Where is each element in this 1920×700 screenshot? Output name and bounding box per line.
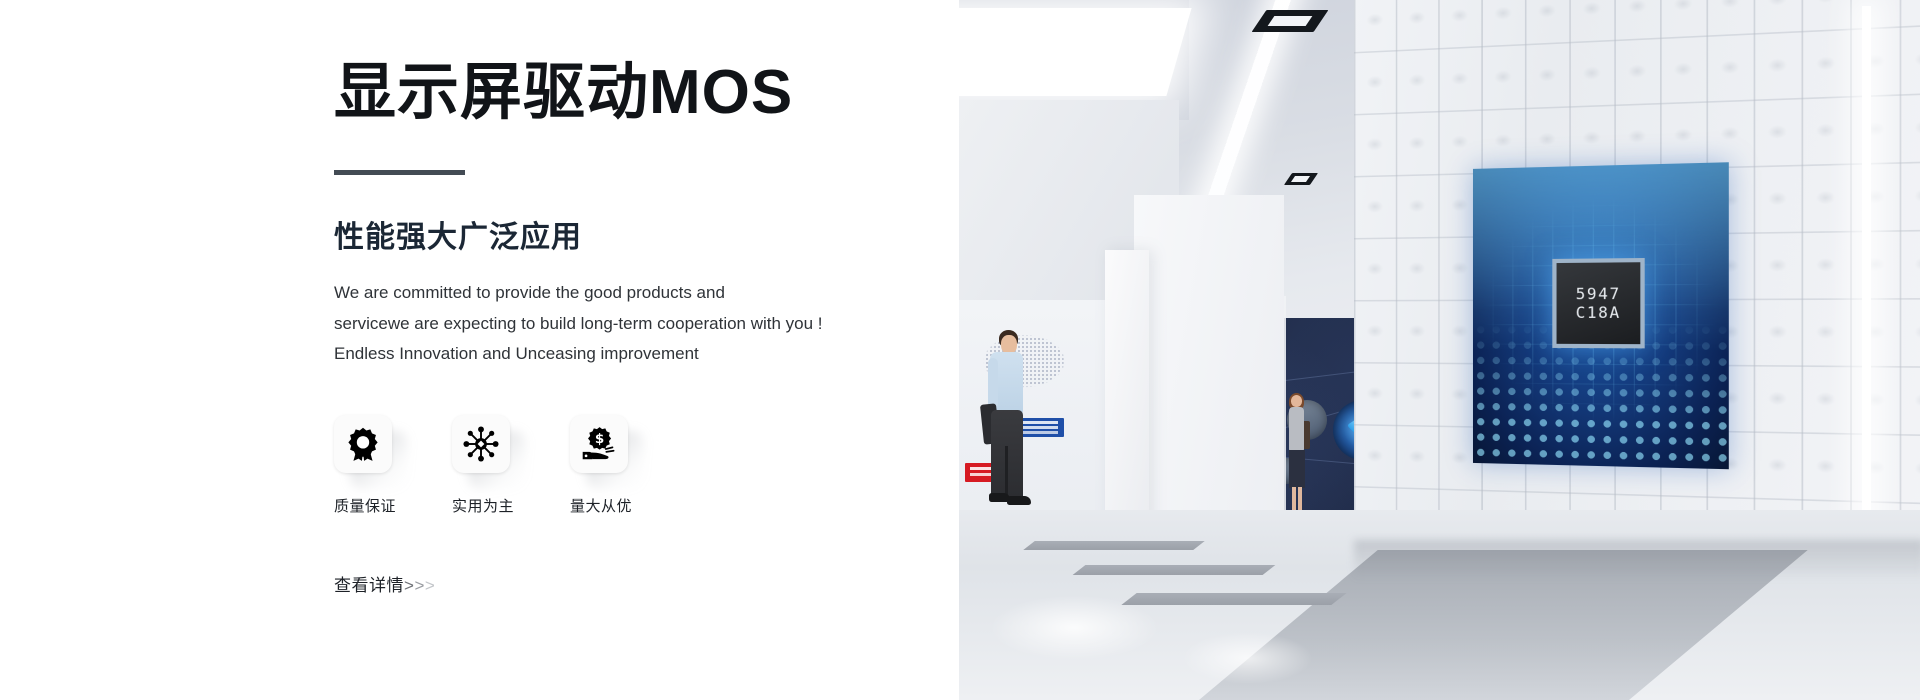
chevron-3-icon: >: [425, 576, 435, 595]
hand-money-icon: $: [581, 426, 617, 462]
feature-label: 量大从优: [570, 495, 688, 516]
feature-badge: [334, 415, 392, 473]
chevron-2-icon: >: [414, 576, 424, 595]
floor-reflection: [959, 510, 1920, 700]
hero-banner: 5947 C18A 创和 电子: [0, 0, 1920, 700]
chip-label-line2: C18A: [1576, 304, 1621, 324]
subheading: 性能强大广泛应用: [334, 220, 914, 256]
page-title: 显示屏驱动MOS: [334, 58, 914, 127]
feature-badge: [452, 415, 510, 473]
feature-list: 质量保证: [334, 415, 914, 516]
description-line-1: We are committed to provide the good pro…: [334, 278, 914, 308]
chevron-1-icon: >: [404, 576, 414, 595]
description-line-2: servicewe are expecting to build long-te…: [334, 309, 914, 339]
description-paragraph: We are committed to provide the good pro…: [334, 278, 914, 369]
floor-inlay-strip: [1073, 565, 1276, 575]
floor-inlay-strip: [1023, 541, 1205, 550]
view-details-link[interactable]: 查看详情>>>: [334, 571, 435, 596]
svg-text:$: $: [595, 431, 604, 447]
network-hub-icon: [463, 426, 499, 462]
view-details-label: 查看详情: [334, 576, 404, 595]
title-divider: [334, 170, 465, 175]
text-content: 显示屏驱动MOS 性能强大广泛应用 We are committed to pr…: [334, 58, 914, 596]
chip-graphic: 5947 C18A: [1552, 258, 1644, 348]
feature-label: 质量保证: [334, 495, 452, 516]
floor-inlay-strip: [1121, 593, 1346, 605]
feature-label: 实用为主: [452, 495, 570, 516]
person-man: [979, 330, 1035, 510]
blue-led-screen: 5947 C18A: [1473, 162, 1729, 469]
description-line-3: Endless Innovation and Unceasing improve…: [334, 339, 914, 369]
wall-base-shadow: [1354, 540, 1920, 580]
feature-badge: $: [570, 415, 628, 473]
feature-item-practical[interactable]: 实用为主: [452, 415, 570, 516]
feature-item-bulk-discount[interactable]: $ 量大从优: [570, 415, 688, 516]
chip-label-line1: 5947: [1576, 284, 1621, 304]
feature-item-quality[interactable]: 质量保证: [334, 415, 452, 516]
showroom-photo: 5947 C18A 创和 电子: [959, 0, 1920, 700]
ceiling-light-panel: [959, 8, 1192, 96]
text-panel: 显示屏驱动MOS 性能强大广泛应用 We are committed to pr…: [0, 0, 959, 700]
showroom-floor: [959, 510, 1920, 700]
award-ribbon-icon: [345, 426, 381, 462]
